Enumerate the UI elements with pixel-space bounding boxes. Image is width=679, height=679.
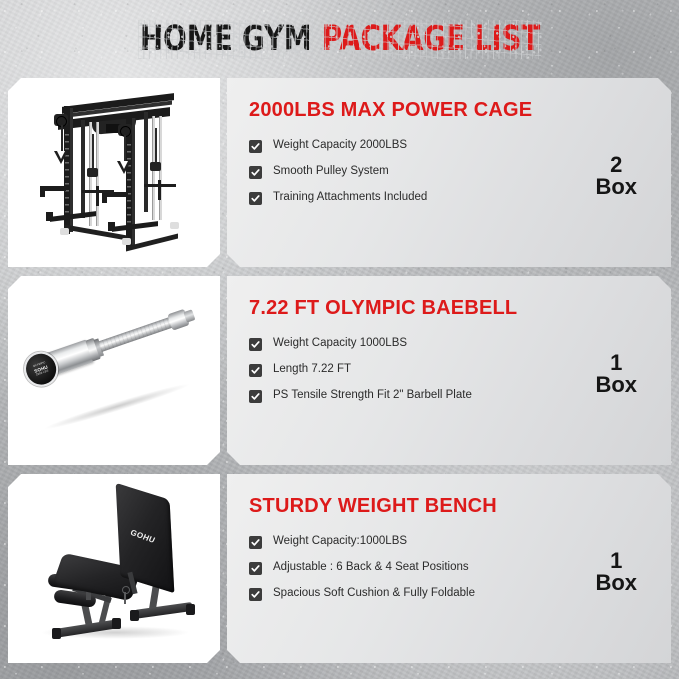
quantity-number: 1 [595,550,637,572]
weight-bench-illustration: GOHU [26,488,206,648]
quantity-number: 1 [595,352,637,374]
page-header: HOME GYM PACKAGE LIST [0,0,679,78]
product-detail-panel: 7.22 FT OLYMPIC BAEBELL Weight Capacity … [227,276,671,465]
quantity-badge: 1 Box [595,550,637,595]
power-cage-photo [8,78,220,267]
checkbox-checked-icon [249,390,262,403]
feature-text: Weight Capacity 2000LBS [273,140,407,152]
feature-text: Weight Capacity:1000LBS [273,536,407,548]
quantity-number: 2 [595,154,637,176]
product-heading: STURDY WEIGHT BENCH [249,496,671,516]
checkbox-checked-icon [249,338,262,351]
product-detail-panel: STURDY WEIGHT BENCH Weight Capacity:1000… [227,474,671,663]
barbell-shadow [44,380,190,432]
power-cage-illustration [34,94,198,254]
feature-text: Adjustable : 6 Back & 4 Seat Positions [273,562,469,574]
checkbox-checked-icon [249,140,262,153]
page-title: HOME GYM PACKAGE LIST [140,22,540,57]
package-list-page: HOME GYM PACKAGE LIST [0,0,679,679]
feature-text: Spacious Soft Cushion & Fully Foldable [273,588,475,600]
page-title-part1: HOME GYM [140,22,311,57]
weight-bench-photo: GOHU [8,474,220,663]
product-heading: 2000LBS MAX POWER CAGE [249,100,671,120]
package-row: 2000LBS MAX POWER CAGE Weight Capacity 2… [8,78,671,267]
checkbox-checked-icon [249,166,262,179]
checkbox-checked-icon [249,536,262,549]
feature-text: Training Attachments Included [273,192,427,204]
package-row: GOHU STURDY WEIGHT BENCH Weight [8,474,671,663]
checkbox-checked-icon [249,588,262,601]
page-title-part2: PACKAGE LIST [321,22,539,57]
product-detail-panel: 2000LBS MAX POWER CAGE Weight Capacity 2… [227,78,671,267]
quantity-unit: Box [595,572,637,594]
quantity-badge: 2 Box [595,154,637,199]
olympic-barbell-photo: OLYMPIC SOHU 2000 LBS [8,276,220,465]
feature-text: Weight Capacity 1000LBS [273,338,407,350]
checkbox-checked-icon [249,192,262,205]
feature-text: Smooth Pulley System [273,166,389,178]
quantity-unit: Box [595,374,637,396]
package-rows: 2000LBS MAX POWER CAGE Weight Capacity 2… [0,78,679,663]
product-heading: 7.22 FT OLYMPIC BAEBELL [249,298,671,318]
quantity-unit: Box [595,176,637,198]
checkbox-checked-icon [249,364,262,377]
barbell-illustration: OLYMPIC SOHU 2000 LBS [26,328,206,414]
checkbox-checked-icon [249,562,262,575]
quantity-badge: 1 Box [595,352,637,397]
feature-text: PS Tensile Strength Fit 2" Barbell Plate [273,390,472,402]
feature-text: Length 7.22 FT [273,364,351,376]
barbell-shaft [98,317,173,352]
package-row: OLYMPIC SOHU 2000 LBS 7.22 FT OLYMPIC BA… [8,276,671,465]
